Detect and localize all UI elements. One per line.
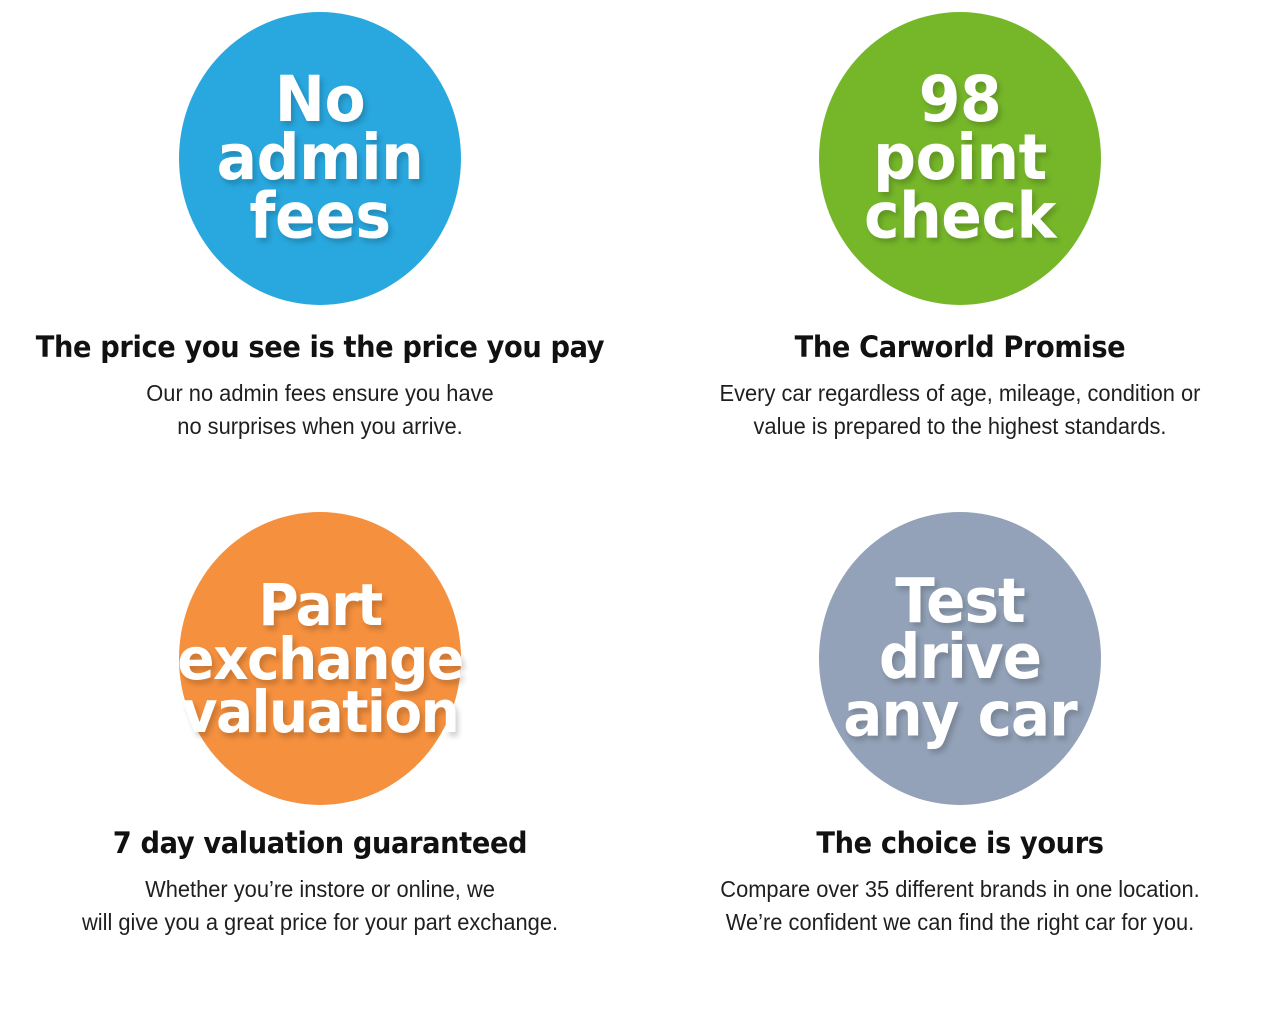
badge-circle-part-exchange-valuation: Part exchange valuation: [179, 512, 461, 805]
usp-card-98-point-check: 98 point check The Carworld Promise Ever…: [640, 12, 1280, 512]
usp-title: 7 day valuation guaranteed: [19, 827, 621, 859]
badge-text-98-point-check: 98 point check: [864, 71, 1056, 246]
usp-card-part-exchange-valuation: Part exchange valuation 7 day valuation …: [0, 512, 640, 1012]
badge-line-2: exchange: [177, 632, 462, 686]
badge-circle-test-drive-any-car: Test drive any car: [819, 512, 1101, 805]
badge-text-part-exchange-valuation: Part exchange valuation: [177, 578, 462, 739]
usp-body: Whether you’re instore or online, we wil…: [16, 873, 624, 938]
usp-body-line-2: value is prepared to the highest standar…: [656, 410, 1264, 443]
usp-body-line-1: Compare over 35 different brands in one …: [656, 873, 1264, 906]
badge-line-1: Part: [177, 578, 462, 632]
usp-title: The choice is yours: [659, 827, 1261, 859]
usp-grid: No admin fees The price you see is the p…: [0, 0, 1280, 1024]
usp-caption: The Carworld Promise Every car regardles…: [640, 331, 1280, 443]
usp-body: Our no admin fees ensure you have no sur…: [16, 377, 624, 442]
badge-text-no-admin-fees: No admin fees: [217, 71, 424, 246]
badge-circle-98-point-check: 98 point check: [819, 12, 1101, 305]
usp-caption: The choice is yours Compare over 35 diff…: [640, 827, 1280, 939]
usp-body: Compare over 35 different brands in one …: [656, 873, 1264, 938]
usp-title: The Carworld Promise: [659, 331, 1261, 363]
usp-body-line-1: Our no admin fees ensure you have: [16, 377, 624, 410]
usp-caption: 7 day valuation guaranteed Whether you’r…: [0, 827, 640, 939]
badge-text-test-drive-any-car: Test drive any car: [843, 574, 1077, 744]
badge-line-3: check: [864, 188, 1056, 246]
usp-body-line-1: Every car regardless of age, mileage, co…: [656, 377, 1264, 410]
usp-title: The price you see is the price you pay: [19, 331, 621, 363]
badge-line-3: fees: [217, 188, 424, 246]
usp-body-line-2: We’re confident we can find the right ca…: [656, 906, 1264, 939]
usp-body-line-2: no surprises when you arrive.: [16, 410, 624, 443]
badge-line-3: any car: [843, 687, 1077, 744]
usp-body-line-2: will give you a great price for your par…: [16, 906, 624, 939]
usp-body: Every car regardless of age, mileage, co…: [656, 377, 1264, 442]
badge-line-3: valuation: [177, 685, 462, 739]
badge-circle-no-admin-fees: No admin fees: [179, 12, 461, 305]
usp-caption: The price you see is the price you pay O…: [0, 331, 640, 443]
usp-body-line-1: Whether you’re instore or online, we: [16, 873, 624, 906]
usp-card-test-drive-any-car: Test drive any car The choice is yours C…: [640, 512, 1280, 1012]
usp-card-no-admin-fees: No admin fees The price you see is the p…: [0, 12, 640, 512]
